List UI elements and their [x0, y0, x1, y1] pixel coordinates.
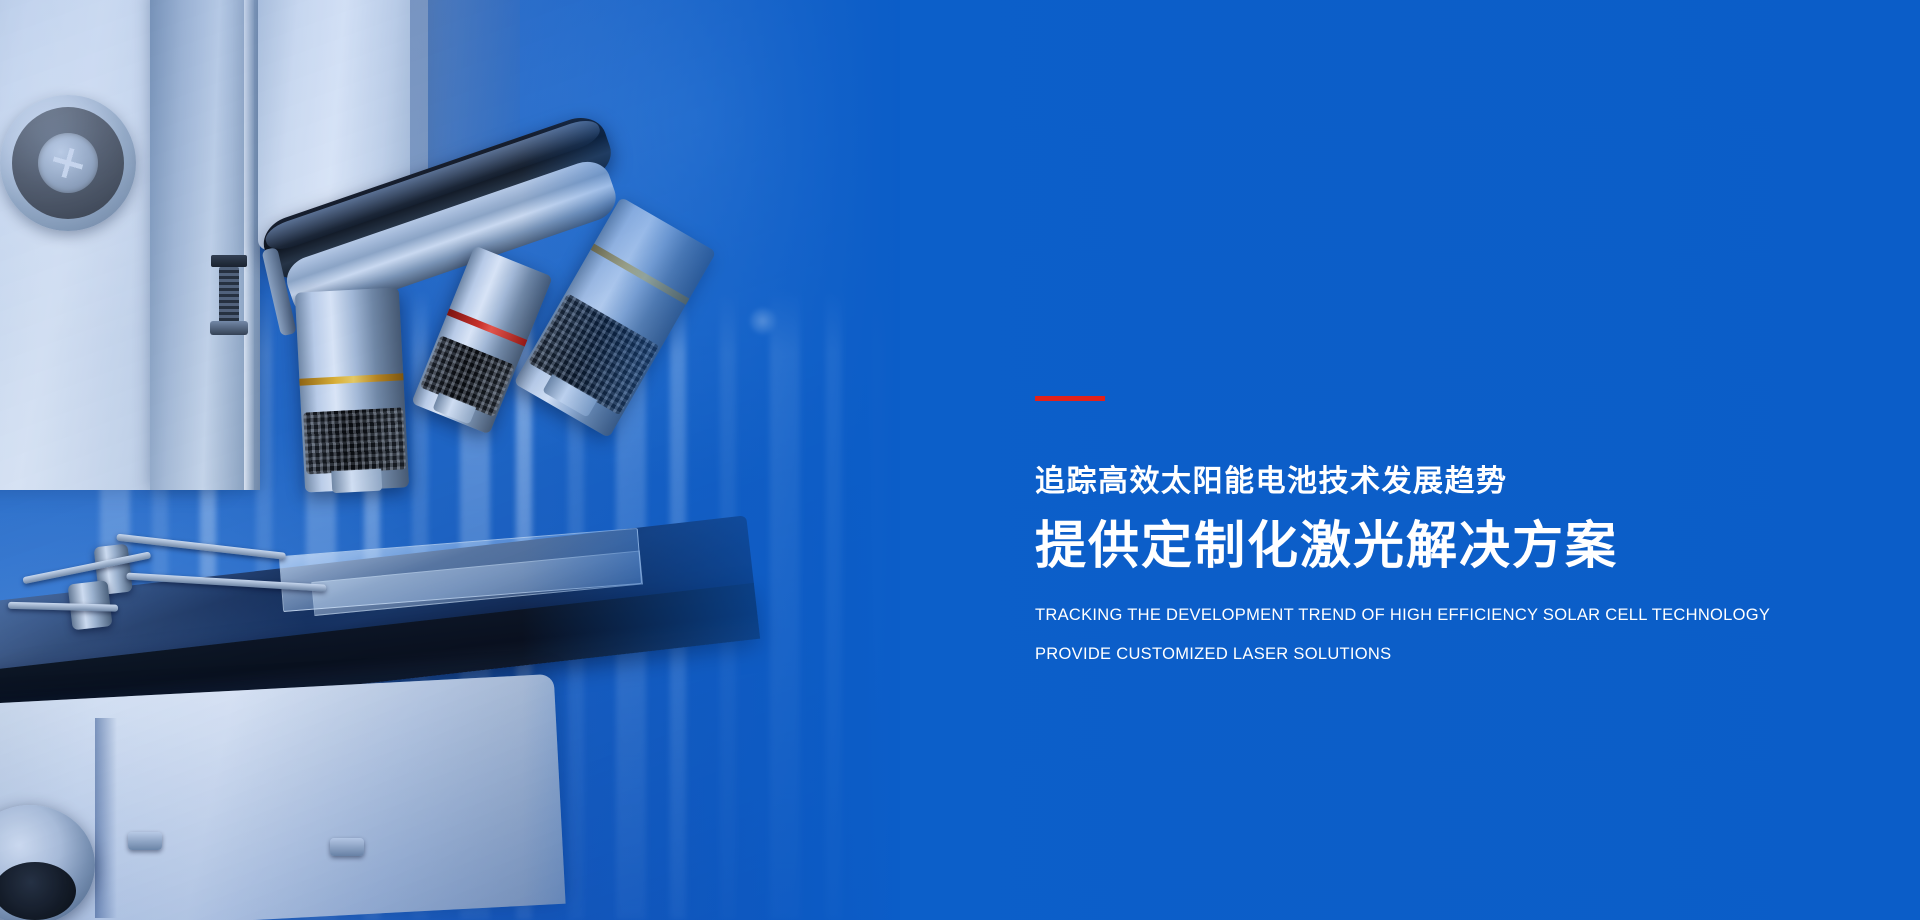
banner-subtitle-en-line2: PROVIDE CUSTOMIZED LASER SOLUTIONS	[1035, 645, 1895, 663]
hero-banner: 追踪高效太阳能电池技术发展趋势 提供定制化激光解决方案 TRACKING THE…	[0, 0, 1920, 920]
photo-edge-fade	[0, 0, 900, 920]
banner-content: 追踪高效太阳能电池技术发展趋势 提供定制化激光解决方案 TRACKING THE…	[1035, 396, 1895, 663]
banner-subtitle-cn: 追踪高效太阳能电池技术发展趋势	[1035, 463, 1895, 501]
banner-title-cn: 提供定制化激光解决方案	[1035, 515, 1895, 576]
banner-subtitle-en-line1: TRACKING THE DEVELOPMENT TREND OF HIGH E…	[1035, 606, 1895, 624]
microscope-photo	[0, 0, 900, 920]
accent-bar	[1035, 396, 1105, 401]
